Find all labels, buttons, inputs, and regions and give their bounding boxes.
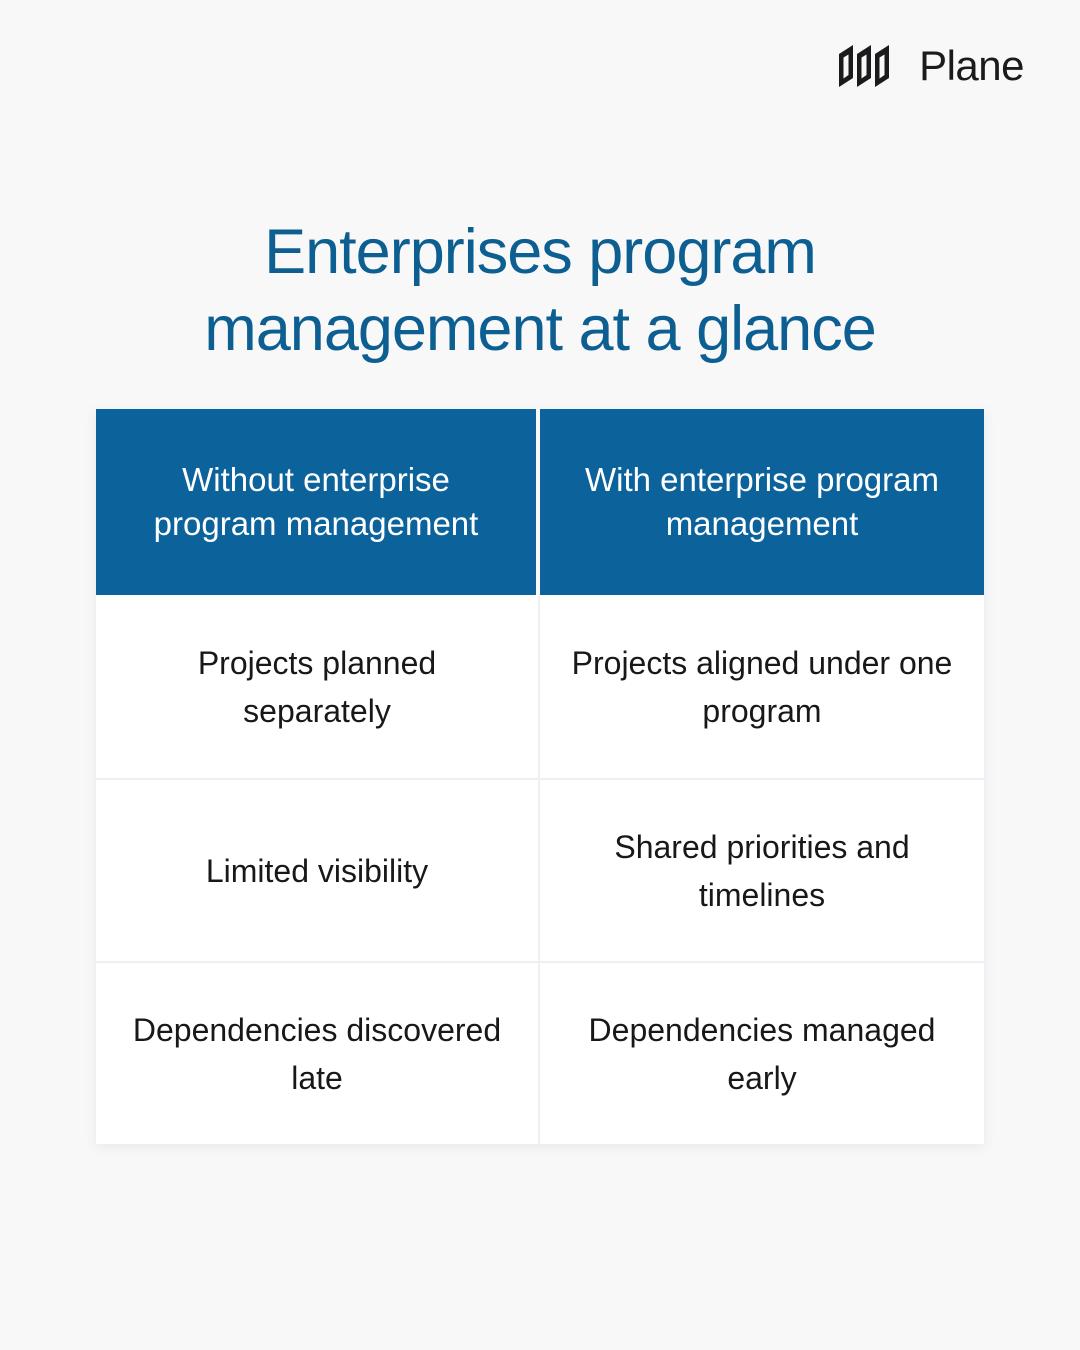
comparison-table: Without enterprise program management Wi…	[96, 409, 984, 1144]
brand-logo: Plane	[839, 45, 1024, 87]
page-title-line-1: Enterprises program	[90, 214, 990, 291]
table-cell-without: Dependencies discovered late	[96, 961, 540, 1144]
table-header-row: Without enterprise program management Wi…	[96, 409, 984, 595]
page-title-line-2: management at a glance	[90, 291, 990, 368]
table-header-without: Without enterprise program management	[96, 409, 540, 595]
brand-wordmark: Plane	[919, 45, 1024, 87]
table-row: Limited visibility Shared priorities and…	[96, 778, 984, 961]
table-cell-with: Dependencies managed early	[540, 961, 984, 1144]
table-cell-without: Projects planned separately	[96, 595, 540, 778]
table-row: Projects planned separately Projects ali…	[96, 595, 984, 778]
plane-logo-mark-icon	[839, 45, 905, 87]
table-cell-with: Projects aligned under one program	[540, 595, 984, 778]
table-cell-with: Shared priorities and timelines	[540, 778, 984, 961]
table-header-with: With enterprise program management	[540, 409, 984, 595]
table-cell-without: Limited visibility	[96, 778, 540, 961]
page-title: Enterprises program management at a glan…	[0, 214, 1080, 368]
table-row: Dependencies discovered late Dependencie…	[96, 961, 984, 1144]
